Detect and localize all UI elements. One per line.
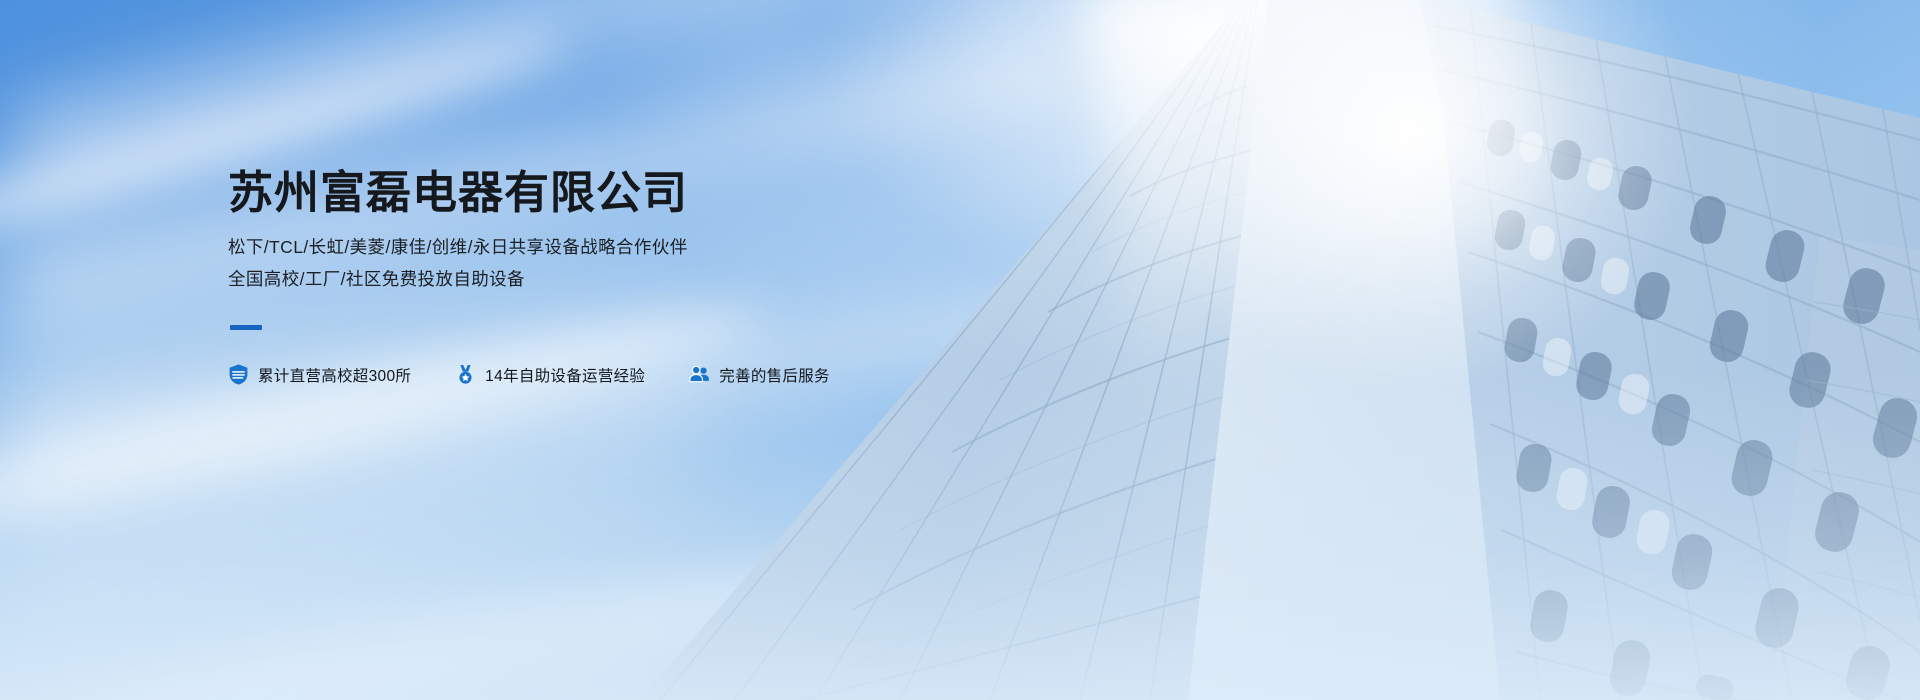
- people-icon: [689, 364, 710, 385]
- feature-badge-label: 完善的售后服务: [719, 364, 830, 386]
- subtitle-line-2: 全国高校/工厂/社区免费投放自助设备: [228, 264, 1048, 295]
- atmospheric-haze: [0, 370, 1920, 700]
- feature-badge: 14年自助设备运营经验: [455, 364, 645, 386]
- feature-badge-label: 累计直营高校超300所: [258, 364, 411, 386]
- feature-badge: 完善的售后服务: [689, 364, 830, 386]
- subtitle-line-1: 松下/TCL/长虹/美菱/康佳/创维/永日共享设备战略合作伙伴: [228, 232, 1048, 263]
- hero-content: 苏州富磊电器有限公司 松下/TCL/长虹/美菱/康佳/创维/永日共享设备战略合作…: [228, 168, 1048, 386]
- page-title: 苏州富磊电器有限公司: [228, 168, 1048, 218]
- subtitle-block: 松下/TCL/长虹/美菱/康佳/创维/永日共享设备战略合作伙伴 全国高校/工厂/…: [228, 232, 1048, 294]
- accent-divider: [230, 325, 262, 330]
- shield-icon: [228, 364, 249, 385]
- medal-icon: [455, 364, 476, 385]
- feature-badge-label: 14年自助设备运营经验: [485, 364, 645, 386]
- hero-banner: 苏州富磊电器有限公司 松下/TCL/长虹/美菱/康佳/创维/永日共享设备战略合作…: [0, 0, 1920, 700]
- feature-badge: 累计直营高校超300所: [228, 364, 411, 386]
- feature-badge-list: 累计直营高校超300所 14年自助设备运营经验 完善的售后服: [228, 364, 1048, 386]
